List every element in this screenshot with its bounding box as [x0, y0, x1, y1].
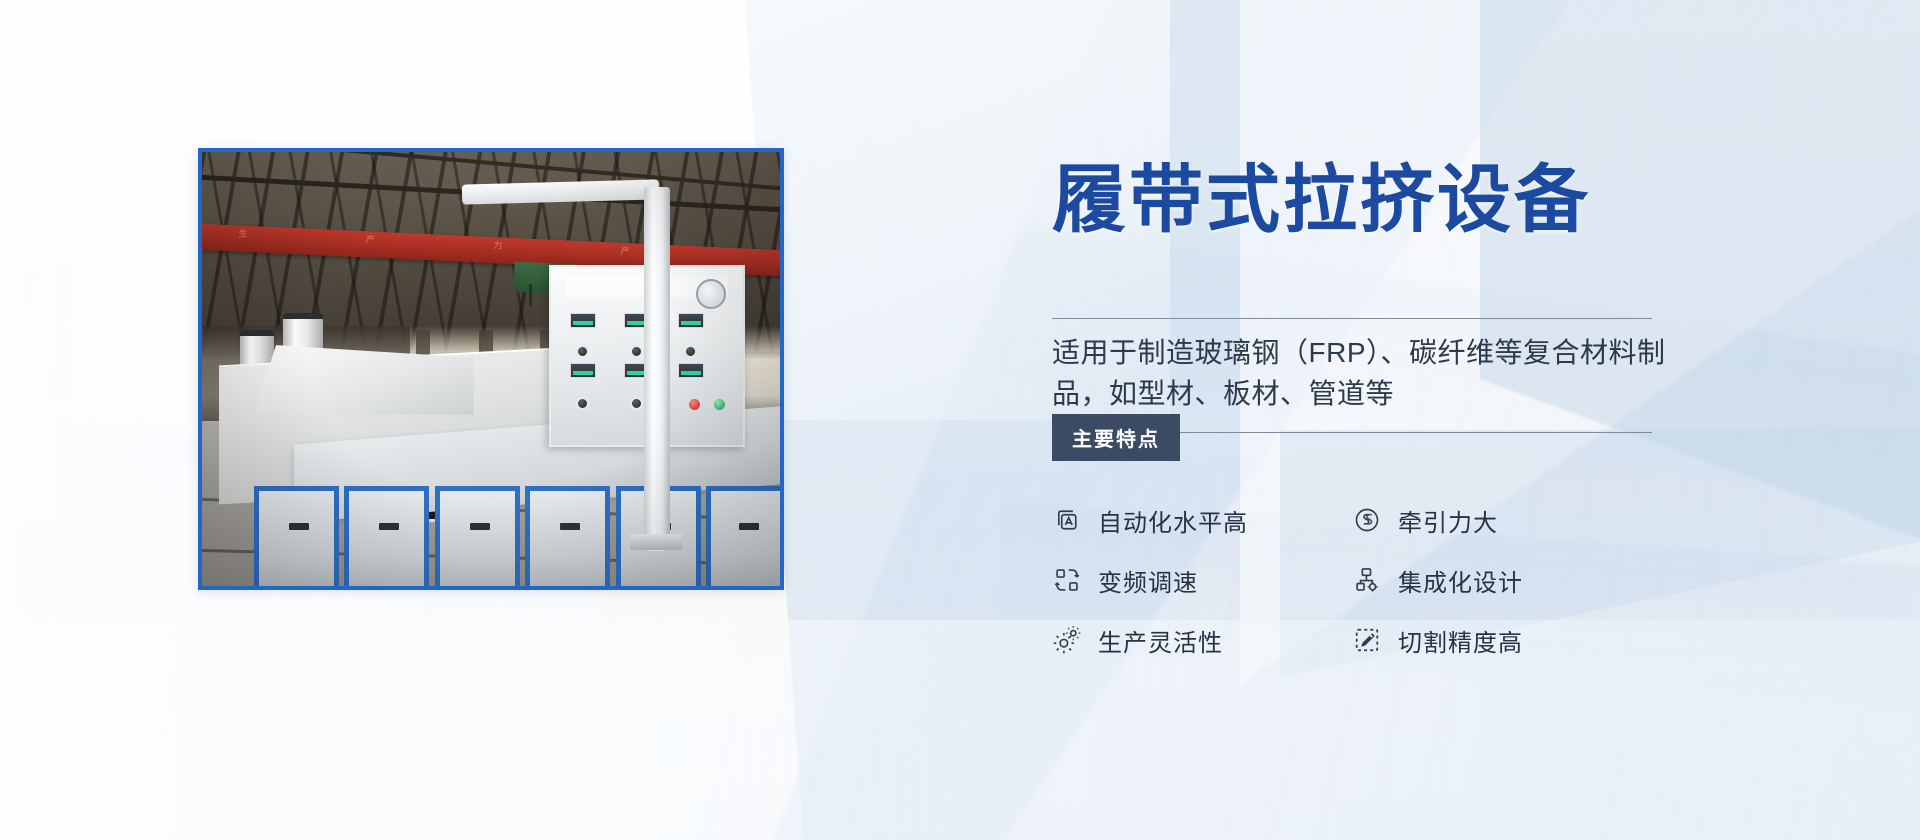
dashed-pen-icon: [1352, 625, 1382, 655]
feature-item-cutting-precision: 切割精度高: [1352, 623, 1652, 658]
gantry-base: [630, 534, 682, 550]
cabinet-handle: [739, 523, 759, 530]
feature-item-automation: 自动化水平高: [1052, 503, 1352, 538]
cabinet-handle: [470, 523, 490, 530]
frequency-nodes-icon: [1052, 565, 1082, 595]
banner-content: 履带式拉挤设备 适用于制造玻璃钢（FRP）、碳纤维等复合材料制品，如型材、板材、…: [1048, 0, 1868, 840]
machine-cabinet: [706, 486, 784, 586]
feature-item-flexibility: 生产灵活性: [1052, 623, 1352, 658]
status-badge: 主要特点: [1052, 414, 1180, 461]
control-knob[interactable]: [576, 397, 589, 410]
integrated-nodes-icon: [1352, 565, 1382, 595]
product-banner: 生 产 力 产 提 规 实: [0, 0, 1920, 840]
feature-label: 自动化水平高: [1098, 503, 1248, 538]
gears-icon: [1052, 625, 1082, 655]
machine-cabinet: [525, 486, 610, 586]
machine-cabinet: [344, 486, 429, 586]
frame-corner-accent-bottom-left: [198, 579, 209, 590]
temperature-meter: [678, 313, 704, 328]
circle-waves-icon: [1352, 505, 1382, 535]
feature-label: 切割精度高: [1398, 623, 1523, 658]
page-title: 履带式拉挤设备: [1052, 163, 1591, 237]
temperature-meter: [570, 363, 596, 378]
cabinet-handle: [560, 523, 580, 530]
frame-corner-accent-top-right: [773, 148, 784, 159]
control-knob[interactable]: [630, 397, 643, 410]
feature-item-integration: 集成化设计: [1352, 563, 1652, 598]
product-photo: 生 产 力 产 提 规 实: [202, 152, 780, 586]
divider-top: [1052, 318, 1652, 319]
letter-a-in-box-icon: [1052, 505, 1082, 535]
feature-label: 集成化设计: [1398, 563, 1523, 598]
machine-cabinet: [435, 486, 520, 586]
indicator-lamp-green: [714, 399, 725, 410]
feature-label: 生产灵活性: [1098, 623, 1223, 658]
feature-label: 牵引力大: [1398, 503, 1498, 538]
feature-list: 自动化水平高 牵引力大: [1052, 490, 1792, 670]
indicator-lamp-red: [689, 399, 700, 410]
feature-item-frequency: 变频调速: [1052, 563, 1352, 598]
machine-cabinet: [254, 486, 339, 586]
temperature-meter: [570, 313, 596, 328]
crane-hook: [529, 284, 532, 306]
feature-label: 变频调速: [1098, 563, 1198, 598]
page-subtitle: 适用于制造玻璃钢（FRP）、碳纤维等复合材料制品，如型材、板材、管道等: [1052, 333, 1672, 414]
control-knob[interactable]: [630, 345, 643, 358]
gantry-post: [644, 187, 670, 552]
control-knob[interactable]: [684, 345, 697, 358]
cabinet-row: [254, 486, 784, 586]
cabinet-handle: [289, 523, 309, 530]
product-photo-frame: 生 产 力 产 提 规 实: [198, 148, 784, 590]
feature-item-traction: 牵引力大: [1352, 503, 1652, 538]
temperature-meter: [678, 363, 704, 378]
cabinet-handle: [379, 523, 399, 530]
control-knob[interactable]: [576, 345, 589, 358]
pressure-gauge: [696, 279, 726, 309]
